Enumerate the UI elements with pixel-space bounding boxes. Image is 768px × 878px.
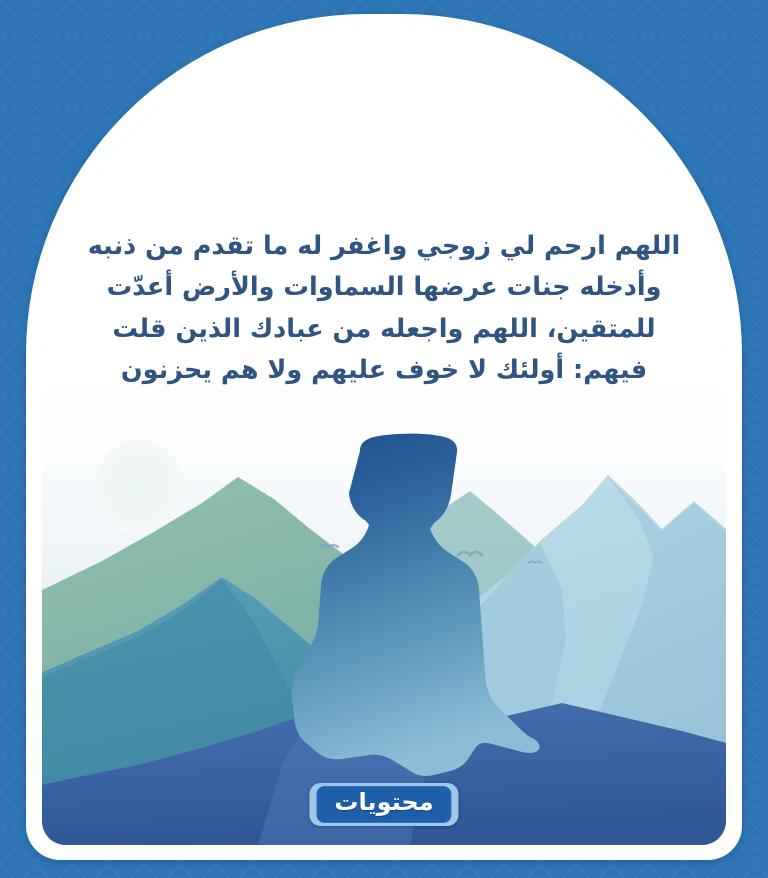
moon-icon	[95, 439, 183, 535]
site-logo-badge[interactable]: محتويات	[309, 783, 458, 826]
site-logo-inner: محتويات	[316, 786, 451, 823]
quote-text: اللهم ارحم لي زوجي واغفر له ما تقدم من ذ…	[42, 226, 726, 391]
quote-card: اللهم ارحم لي زوجي واغفر له ما تقدم من ذ…	[42, 30, 726, 845]
landscape-illustration	[42, 425, 726, 845]
site-logo-label: محتويات	[334, 790, 433, 816]
